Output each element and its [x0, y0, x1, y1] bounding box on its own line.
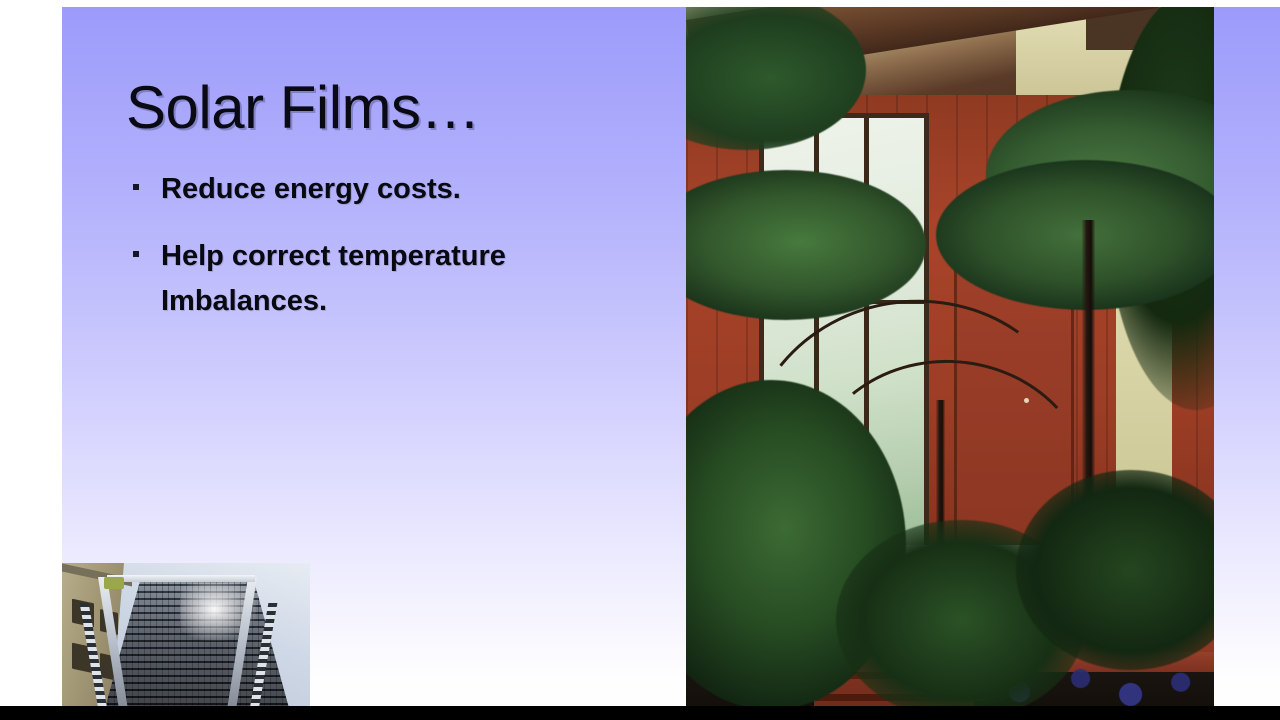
bullet-list: Reduce energy costs. Help correct temper… — [126, 167, 666, 346]
bullet-text: Help correct temperature Imbalances. — [161, 240, 506, 317]
slide-title: Solar Films… — [126, 73, 480, 142]
bottom-letterbox-bar — [0, 706, 1280, 720]
glass-facade-escalator-photo — [62, 563, 310, 706]
bullet-text: Reduce energy costs. — [161, 173, 461, 205]
slide-canvas: Solar Films… Reduce energy costs. Help c… — [62, 7, 1280, 706]
left-margin-gutter — [0, 0, 62, 720]
atrium-interior-photo — [686, 7, 1214, 706]
escalator-top-edge — [107, 575, 255, 582]
escalator-green-accent — [104, 577, 124, 589]
square-bullet-icon — [133, 184, 139, 190]
slide-frame: Solar Films… Reduce energy costs. Help c… — [0, 0, 1280, 720]
bullet-item-reduce-energy-costs: Reduce energy costs. — [126, 167, 666, 212]
bullet-item-help-correct-temperature: Help correct temperature Imbalances. — [126, 234, 666, 324]
square-bullet-icon — [133, 251, 139, 257]
top-margin-strip — [0, 0, 1280, 7]
